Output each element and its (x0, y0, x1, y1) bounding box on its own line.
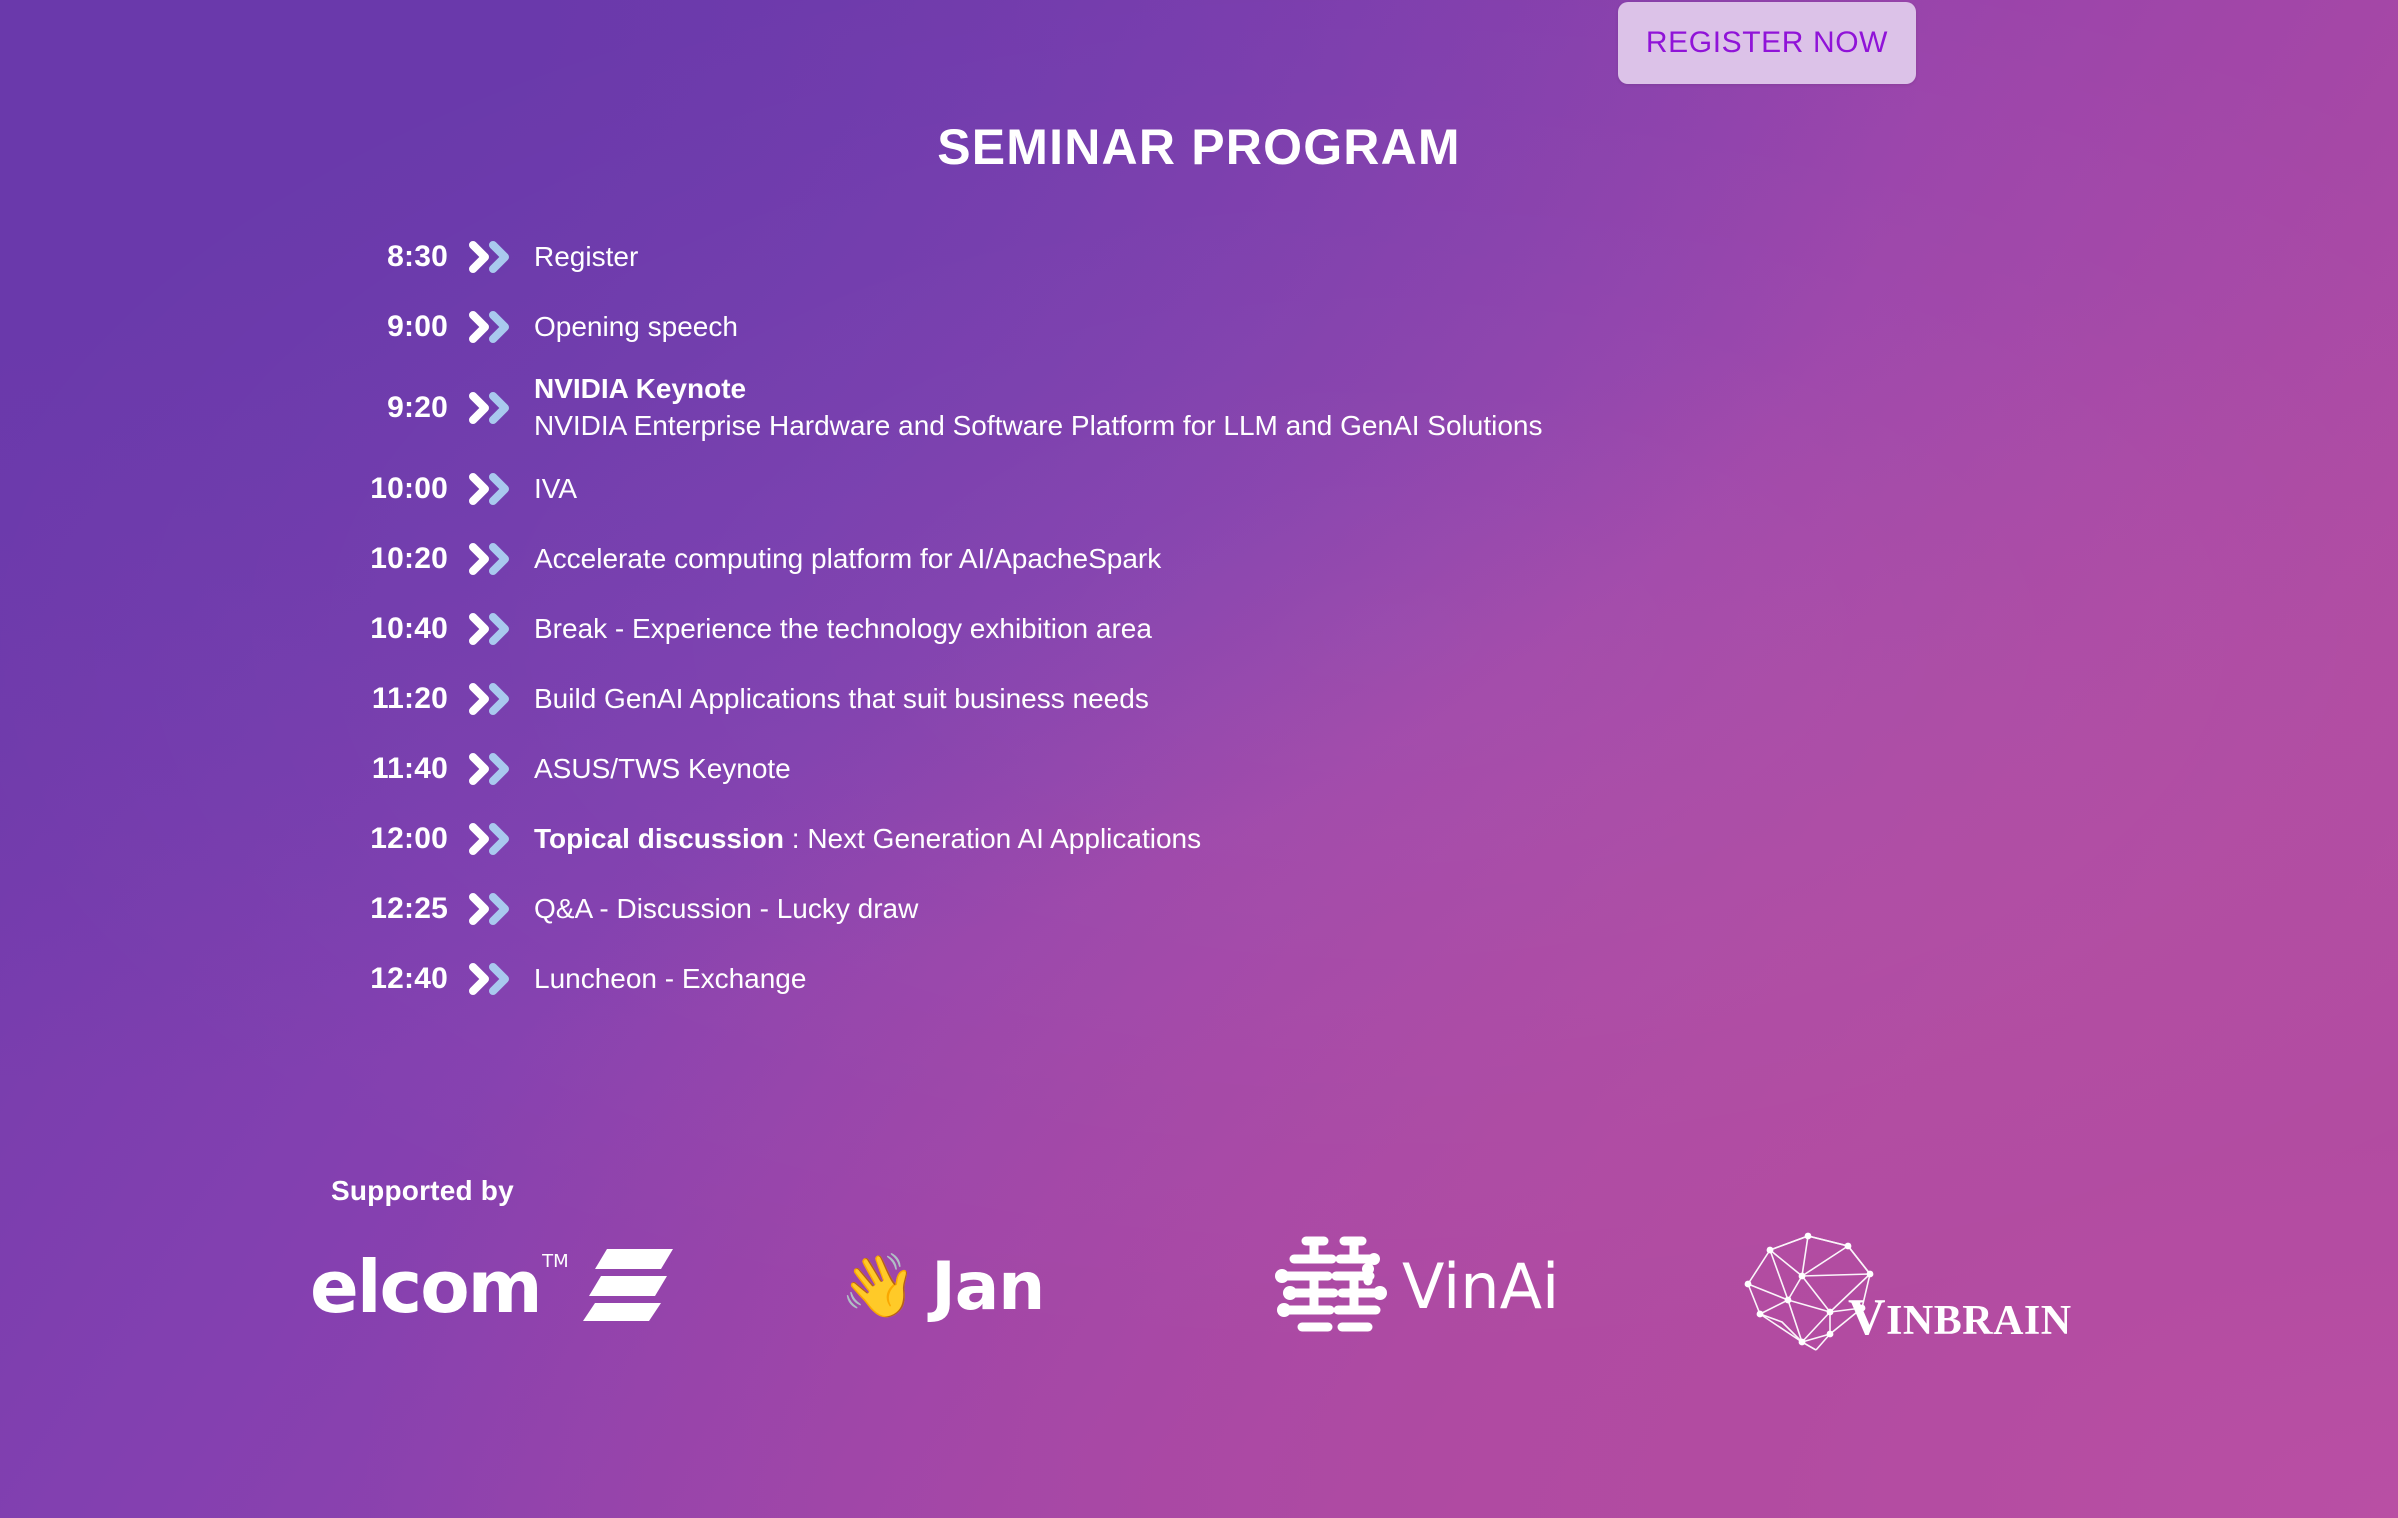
logo-jan[interactable]: 👋 Jan (840, 1222, 1044, 1352)
double-chevron-icon (448, 472, 532, 506)
schedule-row: 12:40Luncheon - Exchange (330, 944, 2030, 1014)
double-chevron-icon (448, 240, 532, 274)
schedule-description-text: ASUS/TWS Keynote (534, 753, 791, 784)
schedule-row: 9:00Opening speech (330, 292, 2030, 362)
waving-hand-icon: 👋 (840, 1256, 917, 1318)
double-chevron-icon (448, 542, 532, 576)
schedule-time: 12:40 (330, 964, 448, 994)
double-chevron-icon (448, 391, 532, 425)
jan-wordmark: Jan (931, 1254, 1044, 1320)
page-title: SEMINAR PROGRAM (0, 118, 2398, 176)
schedule-description: Accelerate computing platform for AI/Apa… (532, 541, 2030, 578)
schedule-row: 10:00IVA (330, 454, 2030, 524)
schedule-description-heading: NVIDIA Keynote (534, 371, 2030, 408)
schedule-time: 9:20 (330, 393, 448, 423)
vinai-circuit-mark-icon (1270, 1229, 1388, 1346)
double-chevron-icon (448, 892, 532, 926)
double-chevron-icon (448, 962, 532, 996)
schedule-row: 11:40ASUS/TWS Keynote (330, 734, 2030, 804)
schedule-time: 10:40 (330, 614, 448, 644)
schedule-description-text: Accelerate computing platform for AI/Apa… (534, 543, 1161, 574)
logo-vinbrain[interactable]: VINBRAIN (1730, 1222, 2070, 1352)
vinbrain-wordmark: VINBRAIN (1848, 1292, 2072, 1344)
schedule-description: NVIDIA KeynoteNVIDIA Enterprise Hardware… (532, 371, 2030, 445)
schedule-description: Q&A - Discussion - Lucky draw (532, 891, 2030, 928)
schedule-description-text: Register (534, 241, 638, 272)
double-chevron-icon (448, 310, 532, 344)
schedule-description: ASUS/TWS Keynote (532, 751, 2030, 788)
schedule-description-subtitle: NVIDIA Enterprise Hardware and Software … (534, 408, 2030, 445)
schedule-description-text: Opening speech (534, 311, 738, 342)
logo-vinai[interactable]: VinAi (1270, 1222, 1559, 1352)
schedule-row: 11:20Build GenAI Applications that suit … (330, 664, 2030, 734)
schedule-row: 9:20NVIDIA KeynoteNVIDIA Enterprise Hard… (330, 362, 2030, 454)
schedule-time: 11:20 (330, 684, 448, 714)
register-now-button[interactable]: REGISTER NOW (1618, 2, 1916, 84)
schedule-description: Break - Experience the technology exhibi… (532, 611, 2030, 648)
schedule-row: 8:30Register (330, 222, 2030, 292)
elcom-e-mark-icon (583, 1247, 675, 1328)
schedule-time: 12:00 (330, 824, 448, 854)
double-chevron-icon (448, 682, 532, 716)
schedule-row: 12:25Q&A - Discussion - Lucky draw (330, 874, 2030, 944)
schedule-time: 8:30 (330, 242, 448, 272)
schedule-description-rest: : Next Generation AI Applications (784, 823, 1201, 854)
elcom-wordmark: elcomTM (310, 1251, 541, 1323)
schedule-time: 10:20 (330, 544, 448, 574)
schedule-description: Register (532, 239, 2030, 276)
double-chevron-icon (448, 752, 532, 786)
schedule-description-text: IVA (534, 473, 577, 504)
schedule-row: 10:20Accelerate computing platform for A… (330, 524, 2030, 594)
schedule-description: Topical discussion : Next Generation AI … (532, 821, 2030, 858)
schedule-time: 10:00 (330, 474, 448, 504)
schedule-description: Luncheon - Exchange (532, 961, 2030, 998)
schedule-description-text: Build GenAI Applications that suit busin… (534, 683, 1149, 714)
schedule-description-text: Luncheon - Exchange (534, 963, 806, 994)
seminar-schedule-list: 8:30Register9:00Opening speech9:20NVIDIA… (330, 222, 2030, 1014)
schedule-time: 9:00 (330, 312, 448, 342)
schedule-description-text: Q&A - Discussion - Lucky draw (534, 893, 918, 924)
schedule-description-bold: Topical discussion (534, 823, 784, 854)
sponsor-logos: elcomTM 👋 Jan (310, 1222, 2100, 1352)
schedule-description: Build GenAI Applications that suit busin… (532, 681, 2030, 718)
vinai-wordmark: VinAi (1402, 1256, 1559, 1318)
schedule-row: 12:00Topical discussion : Next Generatio… (330, 804, 2030, 874)
double-chevron-icon (448, 822, 532, 856)
double-chevron-icon (448, 612, 532, 646)
supported-by-label: Supported by (331, 1175, 514, 1207)
schedule-description: IVA (532, 471, 2030, 508)
schedule-row: 10:40Break - Experience the technology e… (330, 594, 2030, 664)
logo-elcom[interactable]: elcomTM (310, 1222, 675, 1352)
elcom-trademark-icon: TM (542, 1253, 569, 1271)
schedule-description-text: Break - Experience the technology exhibi… (534, 613, 1152, 644)
schedule-time: 11:40 (330, 754, 448, 784)
schedule-time: 12:25 (330, 894, 448, 924)
schedule-description: Opening speech (532, 309, 2030, 346)
